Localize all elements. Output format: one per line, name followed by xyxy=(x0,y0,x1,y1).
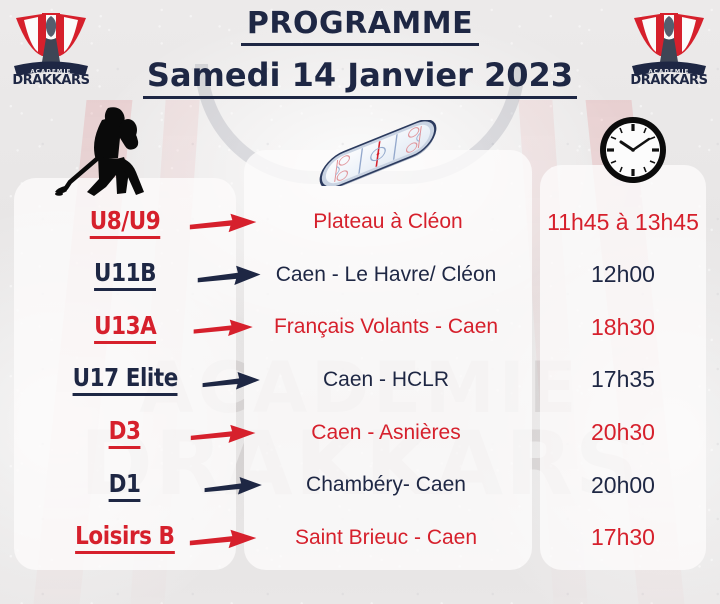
match-cell: Français Volants - Caen xyxy=(236,315,536,339)
table-row: D1 Chambéry- Caen 20h00 xyxy=(0,459,720,512)
logo-drakkars-text: DRAKKARS xyxy=(630,73,707,86)
title-line-2: Samedi 14 Janvier 2023 xyxy=(143,56,577,99)
match-cell: Caen - Asnières xyxy=(236,421,536,445)
drakkars-logo-right: ACADEMIE DRAKKARS xyxy=(626,8,712,86)
table-row: U8/U9 Plateau à Cléon 11h45 à 13h45 xyxy=(0,196,720,249)
table-row: U17 Elite Caen - HCLR 17h35 xyxy=(0,354,720,407)
drakkars-logo-left: ACADEMIE DRAKKARS xyxy=(8,8,94,86)
page-title: PROGRAMME Samedi 14 Janvier 2023 xyxy=(110,6,610,99)
logo-drakkars-text: DRAKKARS xyxy=(12,73,89,86)
match-cell: Saint Brieuc - Caen xyxy=(236,526,536,550)
table-row: D3 Caen - Asnières 20h30 xyxy=(0,406,720,459)
drakkars-logo-left-svg: ACADEMIE DRAKKARS xyxy=(8,8,94,86)
hockey-player-silhouette-icon xyxy=(52,104,174,196)
category-label: Loisirs B xyxy=(75,521,174,554)
match-cell: Plateau à Cléon xyxy=(242,210,534,234)
match-cell: Caen - Le Havre/ Cléon xyxy=(236,263,536,287)
drakkars-logo-right-svg: ACADEMIE DRAKKARS xyxy=(626,8,712,86)
analog-clock-icon xyxy=(597,114,669,186)
time-cell: 20h00 xyxy=(540,472,706,499)
match-cell: Caen - HCLR xyxy=(236,368,536,392)
time-cell: 20h30 xyxy=(540,419,706,446)
table-row: U11B Caen - Le Havre/ Cléon 12h00 xyxy=(0,249,720,302)
poster-header: ACADEMIE DRAKKARS PROGRAMME Samedi 14 Ja… xyxy=(0,0,720,108)
category-label: U13A xyxy=(94,311,156,344)
time-cell: 12h00 xyxy=(540,261,706,288)
icon-strip xyxy=(0,100,720,190)
match-cell: Chambéry- Caen xyxy=(236,473,536,497)
category-label: U8/U9 xyxy=(90,206,161,239)
title-line-1: PROGRAMME xyxy=(241,6,479,46)
table-row: Loisirs B Saint Brieuc - Caen 17h30 xyxy=(0,511,720,564)
category-label: D3 xyxy=(109,416,141,449)
time-cell: 18h30 xyxy=(540,314,706,341)
ice-rink-icon xyxy=(315,120,441,186)
time-cell: 11h45 à 13h45 xyxy=(540,209,706,236)
table-row: U13A Français Volants - Caen 18h30 xyxy=(0,301,720,354)
time-cell: 17h30 xyxy=(540,524,706,551)
time-cell: 17h35 xyxy=(540,366,706,393)
category-label: D1 xyxy=(109,469,141,502)
category-label: U11B xyxy=(94,258,156,291)
category-label: U17 Elite xyxy=(72,363,177,396)
schedule-table: U8/U9 Plateau à Cléon 11h45 à 13h45 U11B… xyxy=(0,196,720,564)
